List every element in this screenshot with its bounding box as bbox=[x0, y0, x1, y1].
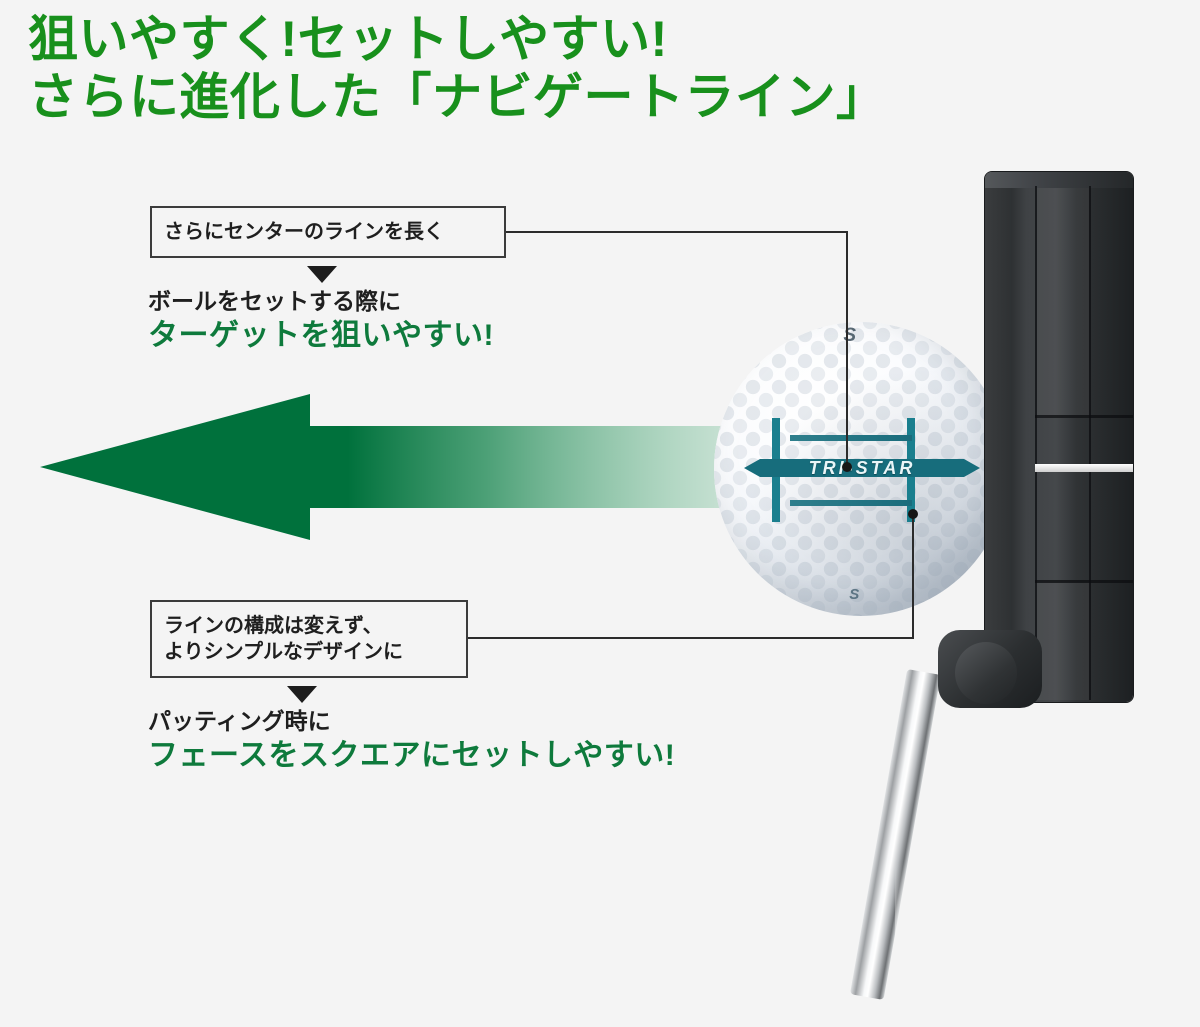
callout-bottom-text-1: ラインの構成は変えず、 bbox=[164, 613, 454, 639]
heading-line-1: 狙いやすく!セットしやすい! bbox=[28, 10, 1178, 68]
putter-hosel-collar bbox=[955, 642, 1017, 704]
putter-alignment-stripe bbox=[1035, 464, 1133, 472]
putter-seam-horizontal-upper bbox=[1035, 415, 1133, 418]
leader-dot-bottom bbox=[908, 509, 918, 519]
putter-seam-vertical-b bbox=[1089, 186, 1091, 700]
putter-top-bevel bbox=[985, 172, 1133, 188]
putter-shaft-fade bbox=[895, 862, 965, 1027]
leader-line-bottom-vertical bbox=[912, 514, 914, 639]
putter-seam-horizontal-lower bbox=[1035, 580, 1133, 583]
leader-dot-top bbox=[842, 462, 852, 472]
putter-seam-vertical-a bbox=[1035, 186, 1037, 700]
benefit-aim: ボールをセットする際に ターゲットを狙いやすい! bbox=[148, 286, 494, 356]
leader-line-bottom-horizontal bbox=[468, 637, 914, 639]
callout-box-simple-design[interactable]: ラインの構成は変えず、 よりシンプルなデザインに bbox=[150, 600, 468, 678]
down-triangle-icon-bottom bbox=[287, 686, 317, 703]
putter-head bbox=[985, 172, 1133, 702]
golf-ball: S S TRI-STAR bbox=[714, 322, 1008, 616]
leader-line-top-vertical bbox=[846, 231, 848, 467]
nav-line-lower bbox=[790, 500, 912, 506]
down-triangle-icon-top bbox=[307, 266, 337, 283]
heading-line-2: さらに進化した「ナビゲートライン」 bbox=[28, 68, 1178, 126]
benefit-square-big: フェースをスクエアにセットしやすい! bbox=[148, 736, 675, 776]
ball-surface: S S TRI-STAR bbox=[714, 322, 1008, 616]
nav-line-upper bbox=[790, 435, 912, 441]
ball-bottom-logo: S bbox=[849, 586, 879, 604]
benefit-square-small: パッティング時に bbox=[148, 706, 675, 736]
benefit-square: パッティング時に フェースをスクエアにセットしやすい! bbox=[148, 706, 675, 776]
putter-cavity-upper bbox=[1037, 188, 1089, 418]
callout-bottom-text-2: よりシンプルなデザインに bbox=[164, 639, 454, 665]
callout-top-text: さらにセンターのラインを長く bbox=[164, 219, 492, 245]
benefit-aim-small: ボールをセットする際に bbox=[148, 286, 494, 316]
putter-cavity-lower bbox=[1037, 582, 1089, 700]
ball-brand-text: TRI-STAR bbox=[744, 459, 980, 477]
ball-top-logo: S bbox=[843, 325, 877, 347]
leader-line-top-horizontal bbox=[506, 231, 848, 233]
benefit-aim-big: ターゲットを狙いやすい! bbox=[148, 316, 494, 356]
callout-box-center-line[interactable]: さらにセンターのラインを長く bbox=[150, 206, 506, 258]
page-title: 狙いやすく!セットしやすい! さらに進化した「ナビゲートライン」 bbox=[28, 10, 1178, 126]
putter-club bbox=[985, 172, 1200, 832]
promo-graphic: 狙いやすく!セットしやすい! さらに進化した「ナビゲートライン」 S S bbox=[0, 0, 1200, 855]
